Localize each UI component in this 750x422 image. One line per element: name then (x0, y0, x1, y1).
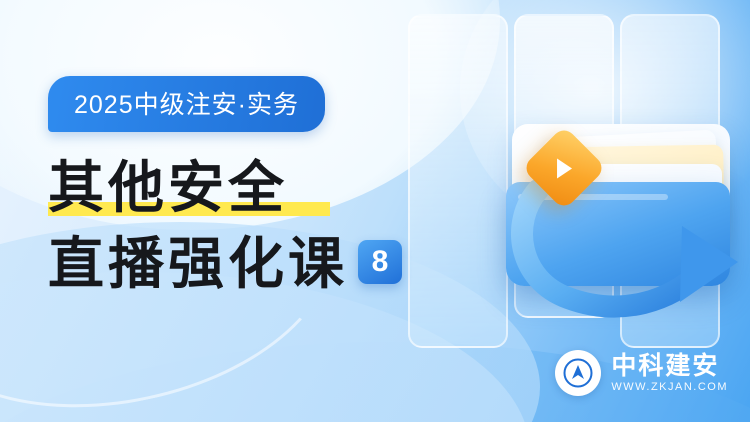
compass-arrow-icon (555, 350, 601, 396)
curved-arrow-icon (476, 130, 750, 330)
banner-text-block: 2025中级注安·实务 其他安全 直播强化课8 (48, 76, 468, 300)
logo-url: WWW.ZKJAN.COM (611, 380, 728, 394)
brand-logo: 中科建安 WWW.ZKJAN.COM (555, 350, 728, 396)
folder-documents-icon (506, 120, 736, 290)
play-triangle (557, 159, 572, 179)
episode-number-badge: 8 (358, 240, 402, 284)
logo-name: 中科建安 (611, 352, 728, 380)
logo-text: 中科建安 WWW.ZKJAN.COM (611, 352, 728, 394)
headline-line-2: 直播强化课8 (48, 228, 468, 300)
course-banner: 2025中级注安·实务 其他安全 直播强化课8 中科建安 WWW.ZKJAN.C… (0, 0, 750, 422)
logo-glyph (555, 350, 601, 396)
headline-line-2-text: 直播强化课 (48, 232, 348, 295)
headline-line-1: 其他安全 (48, 152, 468, 224)
headline: 其他安全 直播强化课8 (48, 152, 468, 300)
course-badge: 2025中级注安·实务 (48, 76, 325, 132)
headline-line-1-text: 其他安全 (48, 156, 288, 219)
